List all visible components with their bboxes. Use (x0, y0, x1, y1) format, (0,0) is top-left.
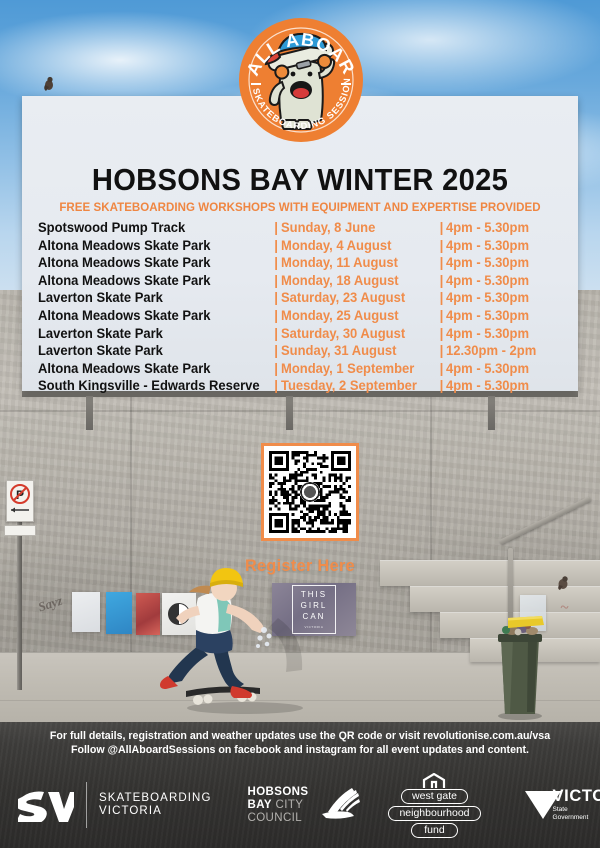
schedule-row: Laverton Skate Park|Sunday, 31 August|12… (38, 343, 566, 361)
sv-monogram-icon (18, 788, 74, 822)
schedule-separator: | (436, 220, 446, 235)
hbcc-wordmark: HOBSONS BAY CITY COUNCIL (248, 786, 309, 825)
schedule-location: Laverton Skate Park (38, 290, 264, 305)
schedule-separator: | (271, 343, 281, 358)
skateboarder-photo (150, 558, 320, 718)
page-subtitle: FREE SKATEBOARDING WORKSHOPS WITH EQUIPM… (41, 200, 558, 214)
qr-code[interactable] (261, 443, 359, 541)
poster-canvas: Sayz ~ THIS GIRL CAN VICTORIA (0, 0, 600, 848)
schedule-location: Altona Meadows Skate Park (38, 255, 264, 270)
schedule-time: 4pm - 5.30pm (446, 378, 562, 393)
billboard-leg (488, 396, 495, 430)
schedule-location: Laverton Skate Park (38, 326, 264, 341)
vic-wordmark: VICTORIA (553, 788, 600, 805)
no-parking-sign: P (6, 480, 34, 522)
sv-line-2: VICTORIA (99, 805, 212, 819)
schedule-separator: | (271, 378, 281, 393)
schedule-separator: | (436, 343, 446, 358)
logo-skateboarding-victoria: SKATEBOARDING VICTORIA (18, 768, 212, 842)
schedule-row: Altona Meadows Skate Park|Monday, 25 Aug… (38, 308, 566, 326)
sv-line-1: SKATEBOARDING (99, 792, 212, 806)
schedule-separator: | (271, 361, 281, 376)
wgnf-line-1: west gate (401, 789, 468, 804)
graffiti-mark: ~ (559, 600, 569, 618)
footer-line-2: Follow @AllAboardSessions on facebook an… (15, 743, 585, 757)
schedule-location: Altona Meadows Skate Park (38, 308, 264, 323)
wall-poster (106, 592, 132, 634)
logo-divider (86, 782, 87, 828)
schedule-separator: | (436, 238, 446, 253)
schedule-date: Monday, 25 August (281, 308, 432, 323)
schedule-row: Altona Meadows Skate Park|Monday, 18 Aug… (38, 273, 566, 291)
schedule-separator: | (436, 361, 446, 376)
hbcc-line-1: HOBSONS (248, 786, 309, 799)
partner-logo-bar: SKATEBOARDING VICTORIA HOBSONS BAY CITY … (0, 768, 600, 842)
schedule-separator: | (271, 238, 281, 253)
schedule-row: South Kingsville - Edwards Reserve|Tuesd… (38, 378, 566, 396)
wgnf-wordmark: west gate neighbourhood fund (388, 789, 480, 838)
schedule-table: Spotswood Pump Track|Sunday, 8 June|4pm … (38, 220, 566, 396)
vic-sub-line-2: Government (553, 814, 600, 822)
schedule-time: 4pm - 5.30pm (446, 220, 562, 235)
logo-hobsons-bay-city-council: HOBSONS BAY CITY COUNCIL (248, 768, 363, 842)
schedule-row: Altona Meadows Skate Park|Monday, 11 Aug… (38, 255, 566, 273)
schedule-row: Altona Meadows Skate Park|Monday, 1 Sept… (38, 361, 566, 379)
schedule-date: Monday, 18 August (281, 273, 432, 288)
schedule-time: 4pm - 5.30pm (446, 238, 562, 253)
schedule-location: Laverton Skate Park (38, 343, 264, 358)
schedule-date: Saturday, 23 August (281, 290, 432, 305)
schedule-time: 4pm - 5.30pm (446, 326, 562, 341)
schedule-separator: | (436, 378, 446, 393)
sv-wordmark: SKATEBOARDING VICTORIA (99, 792, 212, 819)
wgnf-line-2: neighbourhood (388, 806, 480, 821)
footer-info: For full details, registration and weath… (15, 729, 585, 757)
schedule-time: 4pm - 5.30pm (446, 361, 562, 376)
qr-code-icon (269, 451, 351, 533)
schedule-separator: | (271, 273, 281, 288)
logo-west-gate-neighbourhood-fund: west gate neighbourhood fund (388, 768, 480, 842)
schedule-date: Sunday, 31 August (281, 343, 432, 358)
schedule-time: 4pm - 5.30pm (446, 273, 562, 288)
footer-line-1: For full details, registration and weath… (15, 729, 585, 743)
schedule-location: Altona Meadows Skate Park (38, 238, 264, 253)
schedule-time: 4pm - 5.30pm (446, 308, 562, 323)
schedule-separator: | (271, 290, 281, 305)
billboard-leg (286, 396, 293, 430)
schedule-time: 4pm - 5.30pm (446, 290, 562, 305)
billboard-leg (86, 396, 93, 430)
vic-sub: State Government (553, 806, 600, 822)
schedule-row: Altona Meadows Skate Park|Monday, 4 Augu… (38, 238, 566, 256)
hbcc-line-2a: BAY (248, 799, 272, 811)
schedule-separator: | (436, 255, 446, 270)
vic-sub-line-1: State (553, 806, 600, 814)
schedule-separator: | (436, 308, 446, 323)
rubbish-bin (492, 608, 548, 720)
schedule-time: 12.30pm - 2pm (446, 343, 562, 358)
wall-poster (72, 592, 100, 632)
schedule-row: Laverton Skate Park|Saturday, 23 August|… (38, 290, 566, 308)
schedule-date: Monday, 4 August (281, 238, 432, 253)
schedule-time: 4pm - 5.30pm (446, 255, 562, 270)
schedule-date: Tuesday, 2 September (281, 378, 432, 393)
schedule-location: South Kingsville - Edwards Reserve (38, 378, 264, 393)
schedule-location: Spotswood Pump Track (38, 220, 264, 235)
schedule-separator: | (436, 326, 446, 341)
page-title: HOBSONS BAY WINTER 2025 (39, 162, 562, 198)
schedule-separator: | (436, 290, 446, 305)
bird-crest-icon (314, 784, 362, 826)
schedule-separator: | (271, 255, 281, 270)
schedule-separator: | (271, 220, 281, 235)
schedule-location: Altona Meadows Skate Park (38, 361, 264, 376)
house-outline-icon (421, 773, 447, 789)
schedule-date: Monday, 11 August (281, 255, 432, 270)
bird-icon (556, 575, 572, 591)
schedule-separator: | (271, 326, 281, 341)
bird-icon (42, 76, 56, 92)
schedule-row: Spotswood Pump Track|Sunday, 8 June|4pm … (38, 220, 566, 238)
schedule-date: Monday, 1 September (281, 361, 432, 376)
schedule-separator: | (271, 308, 281, 323)
schedule-location: Altona Meadows Skate Park (38, 273, 264, 288)
schedule-date: Saturday, 30 August (281, 326, 432, 341)
hbcc-line-3: COUNCIL (248, 812, 309, 825)
logo-victoria-state-government: VICTORIA State Government (523, 768, 600, 842)
wgnf-line-3: fund (411, 823, 457, 838)
schedule-date: Sunday, 8 June (281, 220, 432, 235)
hbcc-line-2b: CITY (276, 799, 304, 811)
schedule-separator: | (436, 273, 446, 288)
register-here-label: Register Here (15, 556, 585, 576)
schedule-row: Laverton Skate Park|Saturday, 30 August|… (38, 326, 566, 344)
all-aboard-logo: ALL ABOARD SKATEBOARDING SESSIONS (238, 8, 364, 148)
sign-plate-secondary (4, 525, 36, 536)
